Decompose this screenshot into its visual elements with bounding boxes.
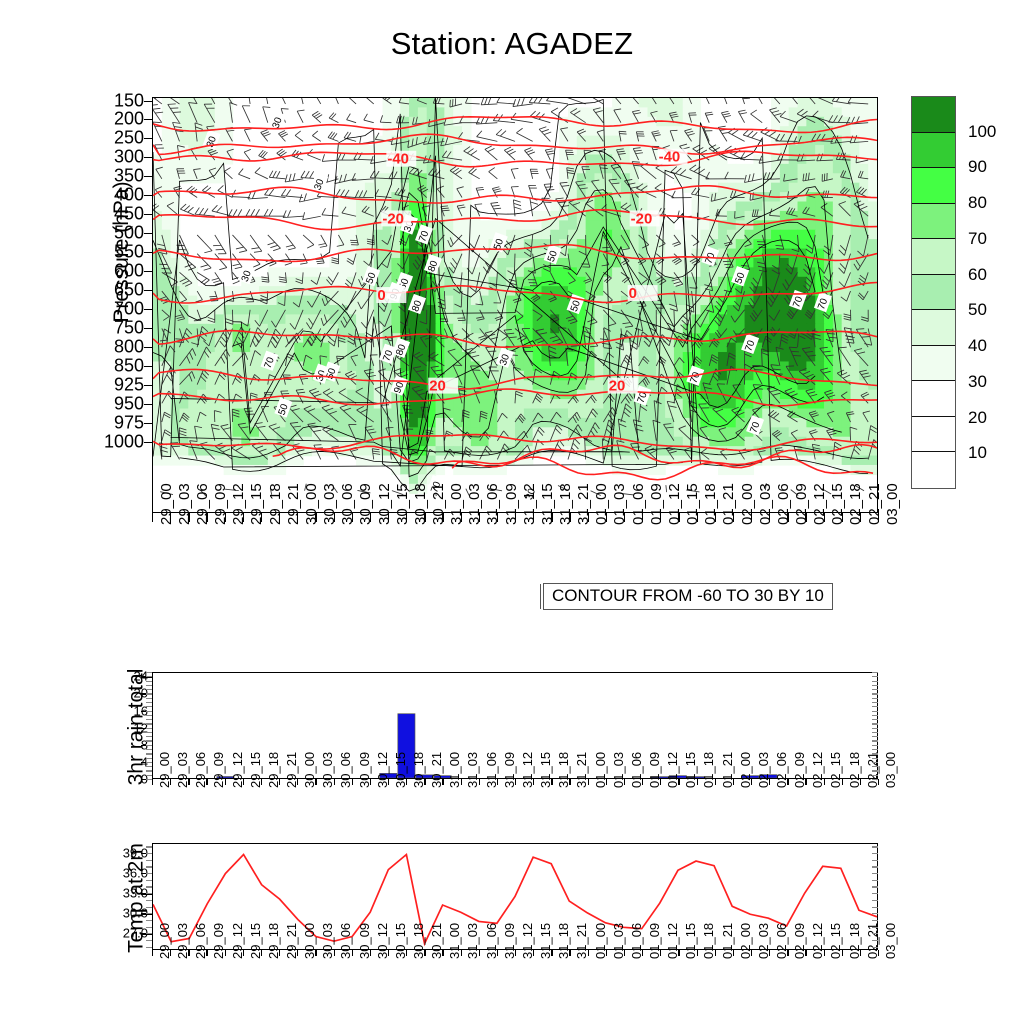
- x-tickmark: [678, 779, 679, 785]
- rain-minor-tick: [146, 719, 152, 720]
- x-tickmark: [642, 513, 643, 522]
- rain-minor-tick: [872, 693, 878, 694]
- x-tick-label-30_06: 30_06: [339, 483, 356, 525]
- x-tick-label-29_18: 29_18: [267, 483, 284, 525]
- rain-minor-tick: [872, 706, 878, 707]
- temp-x-axis: 29_0029_0329_0629_0929_1229_1529_1829_21…: [152, 950, 878, 1014]
- colorbar-label-70: 70: [968, 229, 987, 249]
- pressure-tickmark: [144, 214, 152, 215]
- colorbar-cell-7[interactable]: [912, 346, 955, 382]
- x-tickmark: [279, 950, 280, 956]
- rain-minor-tick: [872, 723, 878, 724]
- pressure-tickmark: [144, 195, 152, 196]
- x-tickmark: [551, 513, 552, 522]
- rain-minor-tick: [872, 762, 878, 763]
- temp-minor-tick: [872, 933, 878, 934]
- rain-minor-tick: [146, 770, 152, 771]
- x-tickmark: [805, 513, 806, 522]
- temp-minor-tick: [146, 947, 152, 948]
- x-tick-label-29_15: 29_15: [248, 483, 265, 525]
- temp-minor-tick: [872, 920, 878, 921]
- colorbar-label-20: 20: [968, 408, 987, 428]
- x-tickmark: [261, 513, 262, 522]
- x-tick-label-01_15: 01_15: [684, 483, 701, 525]
- x-tickmark: [315, 513, 316, 522]
- x-tickmark: [551, 950, 552, 956]
- x-tick-label-01_21: 01_21: [720, 483, 737, 525]
- x-tickmark: [860, 950, 861, 956]
- temp-minor-tick: [872, 886, 878, 887]
- x-tick-label-30_12: 30_12: [376, 483, 393, 525]
- x-tickmark: [497, 513, 498, 522]
- rain-minor-tick: [872, 728, 878, 729]
- x-tickmark: [152, 950, 153, 956]
- rain-minor-tick: [872, 745, 878, 746]
- rain-minor-tick: [872, 758, 878, 759]
- rain-minor-tick: [146, 758, 152, 759]
- rain-minor-tick: [146, 779, 152, 780]
- temp-minor-tick: [872, 866, 878, 867]
- x-tickmark: [206, 513, 207, 522]
- x-tickmark: [660, 513, 661, 522]
- temp-minor-tick: [146, 846, 152, 847]
- x-tickmark: [842, 950, 843, 956]
- x-tickmark: [860, 779, 861, 785]
- rain-minor-tick: [872, 689, 878, 690]
- rain-minor-tick: [872, 749, 878, 750]
- x-tickmark: [878, 950, 879, 956]
- temp-minor-tick: [872, 846, 878, 847]
- temp-minor-tick: [146, 913, 152, 914]
- x-tickmark: [660, 779, 661, 785]
- x-tickmark: [697, 950, 698, 956]
- x-tickmark: [297, 779, 298, 785]
- temperature-isotherm-layer: -40-40-20-20002020: [153, 98, 877, 512]
- x-tickmark: [878, 513, 879, 522]
- rain-minor-tick: [872, 732, 878, 733]
- temp-minor-tick: [146, 860, 152, 861]
- pressure-tickmark: [144, 119, 152, 120]
- temp-minor-tick: [146, 880, 152, 881]
- x-tickmark: [442, 779, 443, 785]
- x-tickmark: [624, 513, 625, 522]
- x-tickmark: [424, 513, 425, 522]
- main-y-axis-label: Pressure (hPa): [110, 122, 134, 382]
- x-tickmark: [769, 950, 770, 956]
- pressure-tickmark: [144, 385, 152, 386]
- x-tick-label-01_00: 01_00: [593, 483, 610, 525]
- x-tick-label-30_21: 30_21: [430, 483, 447, 525]
- x-tickmark: [697, 779, 698, 785]
- x-tick-label-31_18: 31_18: [557, 483, 574, 525]
- colorbar-cell-0[interactable]: [912, 97, 955, 133]
- pressure-tickmark: [144, 442, 152, 443]
- x-tickmark: [787, 950, 788, 956]
- x-tickmark: [352, 513, 353, 522]
- x-tickmark: [588, 950, 589, 956]
- rain-minor-tick: [146, 702, 152, 703]
- x-tickmark: [642, 779, 643, 785]
- x-tickmark: [697, 513, 698, 522]
- x-tickmark: [334, 950, 335, 956]
- x-tick-label-01_06: 01_06: [630, 483, 647, 525]
- x-tickmark: [842, 513, 843, 522]
- x-tickmark: [751, 513, 752, 522]
- x-tickmark: [824, 950, 825, 956]
- x-tickmark: [479, 513, 480, 522]
- x-tick-label-02_09: 02_09: [793, 483, 810, 525]
- x-tickmark: [715, 950, 716, 956]
- x-tickmark: [461, 950, 462, 956]
- x-tickmark: [569, 513, 570, 522]
- x-tickmark: [334, 513, 335, 522]
- contour-legend: CONTOUR FROM -60 TO 30 BY 10: [543, 583, 833, 610]
- rain-minor-tick: [872, 766, 878, 767]
- rain-minor-tick: [146, 732, 152, 733]
- x-tick-label-30_15: 30_15: [394, 483, 411, 525]
- pressure-tick-950: 950: [84, 394, 144, 415]
- x-tickmark: [678, 950, 679, 956]
- x-tick-label-29_12: 29_12: [230, 483, 247, 525]
- pressure-tickmark: [144, 176, 152, 177]
- rain-minor-tick: [872, 676, 878, 677]
- x-tickmark: [479, 779, 480, 785]
- x-tickmark: [551, 779, 552, 785]
- pressure-tickmark: [144, 138, 152, 139]
- x-tick-label-02_00: 02_00: [739, 483, 756, 525]
- x-tick-label-31_21: 31_21: [575, 483, 592, 525]
- x-tickmark: [606, 513, 607, 522]
- x-tickmark: [334, 779, 335, 785]
- x-tick-label-03_00: 03_00: [884, 483, 901, 525]
- colorbar-label-40: 40: [968, 336, 987, 356]
- pressure-tickmark: [144, 101, 152, 102]
- x-tickmark: [769, 779, 770, 785]
- x-tickmark: [243, 950, 244, 956]
- temp-minor-tick: [146, 893, 152, 894]
- rain-minor-tick: [146, 740, 152, 741]
- temp-minor-tick: [146, 886, 152, 887]
- x-tickmark: [787, 779, 788, 785]
- pressure-tickmark: [144, 309, 152, 310]
- x-tickmark: [715, 513, 716, 522]
- pressure-tickmark: [144, 328, 152, 329]
- x-tickmark: [152, 513, 153, 522]
- x-tickmark: [878, 779, 879, 785]
- x-tickmark: [261, 950, 262, 956]
- x-tickmark: [461, 513, 462, 522]
- x-tickmark: [769, 513, 770, 522]
- rain-minor-tick: [872, 685, 878, 686]
- pressure-tickmark: [144, 423, 152, 424]
- rain-minor-tick: [146, 698, 152, 699]
- rain-minor-tick: [146, 681, 152, 682]
- rain-minor-tick: [872, 715, 878, 716]
- x-tickmark: [225, 779, 226, 785]
- temp-minor-tick: [872, 873, 878, 874]
- x-tickmark: [751, 779, 752, 785]
- x-tickmark: [297, 950, 298, 956]
- rain-minor-tick: [146, 753, 152, 754]
- temp-minor-tick: [872, 900, 878, 901]
- x-tickmark: [206, 950, 207, 956]
- x-tickmark: [315, 779, 316, 785]
- x-tick-label-01_12: 01_12: [666, 483, 683, 525]
- x-tickmark: [733, 513, 734, 522]
- colorbar-cell-1[interactable]: [912, 133, 955, 169]
- x-tickmark: [261, 779, 262, 785]
- x-tickmark: [352, 950, 353, 956]
- rain-minor-tick: [872, 736, 878, 737]
- rain-x-axis: 29_0029_0329_0629_0929_1229_1529_1829_21…: [152, 779, 878, 843]
- x-tick-label-31_06: 31_06: [484, 483, 501, 525]
- x-tickmark: [642, 950, 643, 956]
- x-tick-label-29_03: 29_03: [176, 483, 193, 525]
- colorbar-cell-5[interactable]: [912, 275, 955, 311]
- rain-minor-tick: [146, 689, 152, 690]
- rain-minor-tick: [872, 779, 878, 780]
- main-x-axis: 29_0029_0329_0629_0929_1229_1529_1829_21…: [152, 513, 878, 583]
- pressure-tickmark: [144, 252, 152, 253]
- rain-minor-tick: [146, 723, 152, 724]
- x-tickmark: [533, 513, 534, 522]
- x-tick-label-31_09: 31_09: [503, 483, 520, 525]
- x-tick-label-31_12: 31_12: [521, 483, 538, 525]
- x-tickmark: [824, 513, 825, 522]
- x-tickmark: [188, 779, 189, 785]
- colorbar-label-80: 80: [968, 193, 987, 213]
- pressure-tickmark: [144, 404, 152, 405]
- x-tickmark: [370, 779, 371, 785]
- rain-minor-tick: [872, 711, 878, 712]
- rain-minor-tick: [872, 775, 878, 776]
- rain-minor-tick: [146, 736, 152, 737]
- x-tickmark: [442, 950, 443, 956]
- temp-minor-tick: [872, 907, 878, 908]
- colorbar-cell-3[interactable]: [912, 204, 955, 240]
- colorbar-label-60: 60: [968, 265, 987, 285]
- temp-minor-tick: [146, 900, 152, 901]
- colorbar-label-10: 10: [968, 443, 987, 463]
- temp-minor-tick: [146, 873, 152, 874]
- pressure-tickmark: [144, 271, 152, 272]
- x-tickmark: [370, 513, 371, 522]
- x-tickmark: [860, 513, 861, 522]
- colorbar-cell-6[interactable]: [912, 310, 955, 346]
- rain-minor-tick: [872, 702, 878, 703]
- x-tick-label-31_03: 31_03: [466, 483, 483, 525]
- rain-minor-tick: [146, 715, 152, 716]
- pressure-tickmark: [144, 290, 152, 291]
- x-tickmark: [678, 513, 679, 522]
- rain-minor-tick: [872, 770, 878, 771]
- pressure-tick-975: 975: [84, 413, 144, 434]
- pressure-tick-1000: 1000: [84, 432, 144, 453]
- x-tick-label-30_00: 30_00: [303, 483, 320, 525]
- x-tickmark: [279, 779, 280, 785]
- temp-minor-tick: [146, 940, 152, 941]
- x-tickmark: [352, 779, 353, 785]
- rain-minor-tick: [146, 766, 152, 767]
- x-tickmark: [279, 513, 280, 522]
- rain-minor-tick: [146, 745, 152, 746]
- pressure-tickmark: [144, 366, 152, 367]
- x-tickmark: [406, 513, 407, 522]
- temp-minor-tick: [872, 947, 878, 948]
- colorbar-label-30: 30: [968, 372, 987, 392]
- x-tick-label-01_18: 01_18: [702, 483, 719, 525]
- x-tick-label-30_18: 30_18: [412, 483, 429, 525]
- rain-minor-tick: [146, 672, 152, 673]
- x-tickmark: [388, 779, 389, 785]
- sounding-timeseries-plot[interactable]: 3030303030303030505050505050505070707070…: [152, 97, 878, 513]
- rain-minor-tick: [872, 719, 878, 720]
- x-tickmark: [624, 779, 625, 785]
- x-tick-label-03_00: 03_00: [883, 752, 898, 788]
- rain-minor-tick: [146, 762, 152, 763]
- x-tickmark: [805, 950, 806, 956]
- temp-minor-tick: [146, 933, 152, 934]
- x-tickmark: [533, 950, 534, 956]
- x-tickmark: [243, 513, 244, 522]
- x-tick-label-02_21: 02_21: [866, 483, 883, 525]
- x-tickmark: [588, 779, 589, 785]
- rain-minor-tick: [146, 775, 152, 776]
- colorbar-cell-9[interactable]: [912, 417, 955, 453]
- x-tick-label-01_03: 01_03: [611, 483, 628, 525]
- x-tickmark: [479, 950, 480, 956]
- x-tickmark: [388, 950, 389, 956]
- temp-minor-tick: [872, 913, 878, 914]
- x-tickmark: [497, 950, 498, 956]
- temp-minor-tick: [146, 920, 152, 921]
- x-tick-label-29_09: 29_09: [212, 483, 229, 525]
- rain-minor-tick: [146, 693, 152, 694]
- pressure-tickmark: [144, 347, 152, 348]
- x-tickmark: [624, 950, 625, 956]
- x-tickmark: [152, 779, 153, 785]
- colorbar-cell-8[interactable]: [912, 381, 955, 417]
- temp-minor-tick: [146, 853, 152, 854]
- x-tickmark: [751, 950, 752, 956]
- x-tickmark: [842, 779, 843, 785]
- x-tickmark: [206, 779, 207, 785]
- x-tickmark: [170, 779, 171, 785]
- humidity-colorbar[interactable]: [911, 96, 956, 489]
- temp-minor-tick: [146, 866, 152, 867]
- x-tickmark: [660, 950, 661, 956]
- x-tick-label-02_06: 02_06: [775, 483, 792, 525]
- x-tickmark: [461, 779, 462, 785]
- x-tick-label-29_00: 29_00: [158, 483, 175, 525]
- x-tickmark: [733, 950, 734, 956]
- rain-minor-tick: [872, 740, 878, 741]
- x-tickmark: [787, 513, 788, 522]
- x-tickmark: [188, 950, 189, 956]
- x-tickmark: [170, 513, 171, 522]
- x-tickmark: [606, 950, 607, 956]
- temp-minor-tick: [872, 940, 878, 941]
- x-tickmark: [515, 779, 516, 785]
- x-tickmark: [442, 513, 443, 522]
- x-tick-label-30_09: 30_09: [357, 483, 374, 525]
- temp-minor-tick: [146, 907, 152, 908]
- rain-minor-tick: [146, 749, 152, 750]
- page-title: Station: AGADEZ: [0, 26, 1024, 62]
- temp-minor-tick: [872, 860, 878, 861]
- x-tick-label-02_18: 02_18: [847, 483, 864, 525]
- pressure-tickmark: [144, 233, 152, 234]
- colorbar-label-100: 100: [968, 122, 996, 142]
- x-tickmark: [370, 950, 371, 956]
- rain-minor-tick: [872, 681, 878, 682]
- x-tickmark: [606, 779, 607, 785]
- rain-minor-tick: [146, 685, 152, 686]
- temp-minor-tick: [146, 927, 152, 928]
- x-tick-label-02_12: 02_12: [811, 483, 828, 525]
- colorbar-label-50: 50: [968, 300, 987, 320]
- x-tickmark: [170, 950, 171, 956]
- temp-minor-tick: [872, 893, 878, 894]
- x-tickmark: [805, 779, 806, 785]
- rain-minor-tick: [146, 728, 152, 729]
- rain-minor-tick: [146, 711, 152, 712]
- x-tick-label-02_03: 02_03: [757, 483, 774, 525]
- x-tickmark: [406, 779, 407, 785]
- x-tick-label-30_03: 30_03: [321, 483, 338, 525]
- rain-minor-tick: [872, 672, 878, 673]
- colorbar-cell-4[interactable]: [912, 239, 955, 275]
- rain-minor-tick: [872, 753, 878, 754]
- x-tick-label-01_09: 01_09: [648, 483, 665, 525]
- x-tickmark: [515, 513, 516, 522]
- colorbar-cell-2[interactable]: [912, 168, 955, 204]
- x-tickmark: [497, 779, 498, 785]
- x-tickmark: [824, 779, 825, 785]
- x-tickmark: [188, 513, 189, 522]
- pressure-tickmark: [144, 157, 152, 158]
- x-tickmark: [733, 779, 734, 785]
- rain-minor-tick: [872, 698, 878, 699]
- x-tickmark: [424, 950, 425, 956]
- x-tick-label-31_00: 31_00: [448, 483, 465, 525]
- x-tickmark: [225, 513, 226, 522]
- x-tickmark: [388, 513, 389, 522]
- x-tickmark: [225, 950, 226, 956]
- x-tickmark: [569, 950, 570, 956]
- colorbar-label-90: 90: [968, 157, 987, 177]
- x-tickmark: [569, 779, 570, 785]
- x-tick-label-03_00: 03_00: [883, 923, 898, 959]
- colorbar-cell-10[interactable]: [912, 452, 955, 488]
- rain-minor-tick: [146, 706, 152, 707]
- x-tick-label-02_15: 02_15: [829, 483, 846, 525]
- temp-minor-tick: [872, 853, 878, 854]
- x-tickmark: [406, 950, 407, 956]
- temp-minor-tick: [872, 880, 878, 881]
- x-tickmark: [243, 779, 244, 785]
- x-tickmark: [297, 513, 298, 522]
- rain-minor-tick: [146, 676, 152, 677]
- x-tickmark: [588, 513, 589, 522]
- x-tick-label-31_15: 31_15: [539, 483, 556, 525]
- x-tick-label-29_06: 29_06: [194, 483, 211, 525]
- x-tickmark: [315, 950, 316, 956]
- x-tickmark: [515, 950, 516, 956]
- x-tickmark: [715, 779, 716, 785]
- temp-minor-tick: [872, 927, 878, 928]
- x-tick-label-29_21: 29_21: [285, 483, 302, 525]
